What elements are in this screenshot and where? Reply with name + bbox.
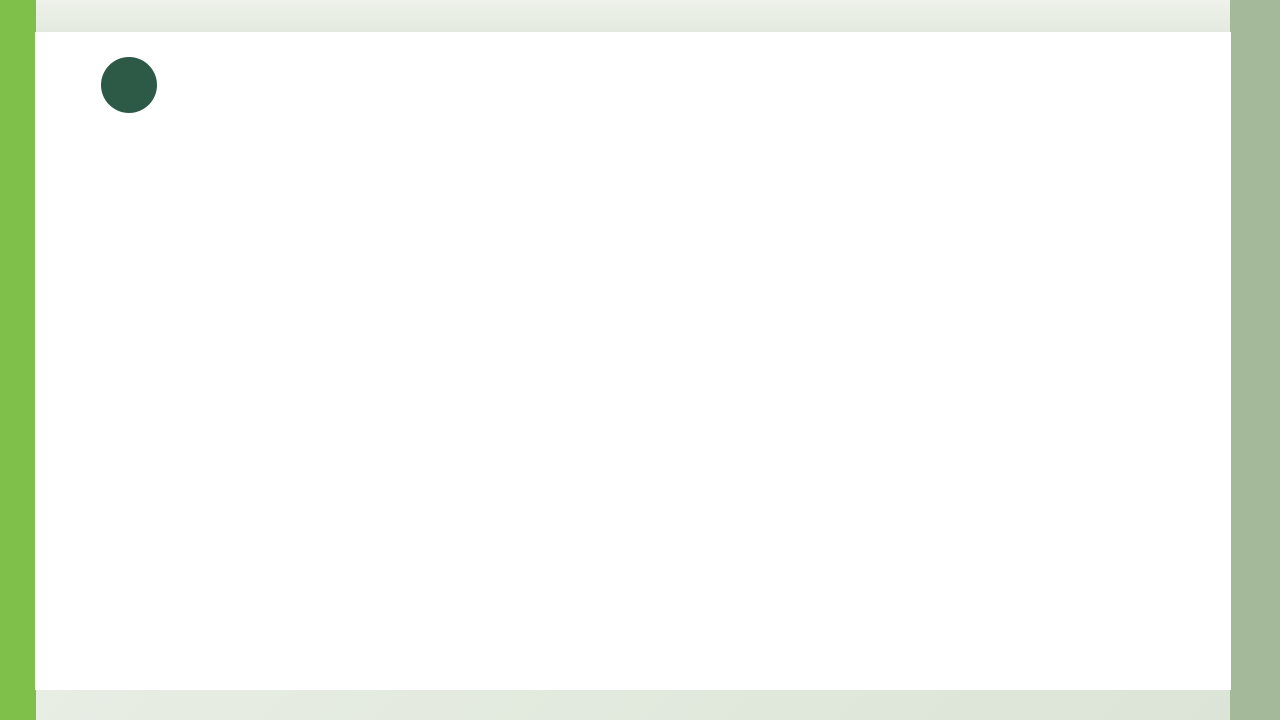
green-leaf-wall-decoration [0,0,36,720]
circle-icon [101,57,157,113]
slide-header [101,57,179,113]
content-card [35,32,1231,690]
sage-green-band [1230,0,1280,720]
palm-frond-decoration [0,0,1280,36]
